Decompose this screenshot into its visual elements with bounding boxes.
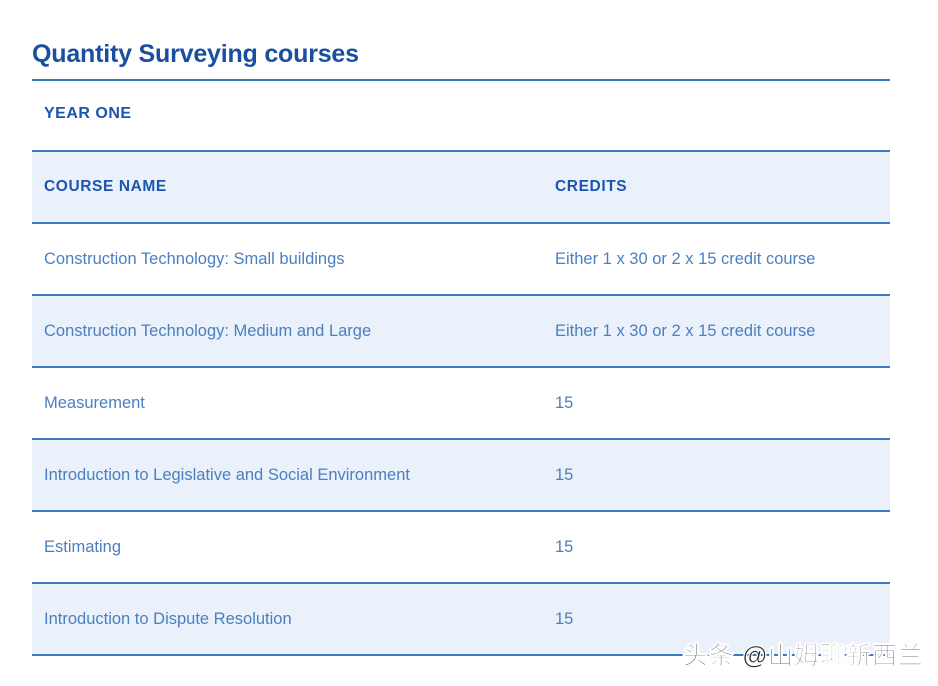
cell-credits: 15 bbox=[543, 511, 890, 583]
table-header: COURSE NAME CREDITS bbox=[32, 151, 890, 223]
cell-course-name: Construction Technology: Medium and Larg… bbox=[32, 295, 543, 367]
course-listing-page: Quantity Surveying courses YEAR ONE COUR… bbox=[0, 0, 938, 686]
column-header-credits: CREDITS bbox=[543, 151, 890, 223]
column-header-course-name: COURSE NAME bbox=[32, 151, 543, 223]
cell-credits: 15 bbox=[543, 367, 890, 439]
table-body: Construction Technology: Small buildings… bbox=[32, 223, 890, 655]
table-row: Estimating 15 bbox=[32, 511, 890, 583]
cell-credits: Either 1 x 30 or 2 x 15 credit course bbox=[543, 223, 890, 295]
title-divider bbox=[32, 79, 890, 81]
cell-credits: 15 bbox=[543, 583, 890, 655]
page-title: Quantity Surveying courses bbox=[32, 40, 359, 69]
table-row: Construction Technology: Medium and Larg… bbox=[32, 295, 890, 367]
table-row: Measurement 15 bbox=[32, 367, 890, 439]
table-header-row: COURSE NAME CREDITS bbox=[32, 151, 890, 223]
cell-credits: Either 1 x 30 or 2 x 15 credit course bbox=[543, 295, 890, 367]
year-section-label: YEAR ONE bbox=[44, 105, 132, 123]
cell-course-name: Construction Technology: Small buildings bbox=[32, 223, 543, 295]
table-row: Introduction to Legislative and Social E… bbox=[32, 439, 890, 511]
cell-course-name: Measurement bbox=[32, 367, 543, 439]
cell-credits: 15 bbox=[543, 439, 890, 511]
courses-table: COURSE NAME CREDITS Construction Technol… bbox=[32, 150, 890, 656]
cell-course-name: Introduction to Dispute Resolution bbox=[32, 583, 543, 655]
table-row: Construction Technology: Small buildings… bbox=[32, 223, 890, 295]
cell-course-name: Estimating bbox=[32, 511, 543, 583]
table-row: Introduction to Dispute Resolution 15 bbox=[32, 583, 890, 655]
cell-course-name: Introduction to Legislative and Social E… bbox=[32, 439, 543, 511]
